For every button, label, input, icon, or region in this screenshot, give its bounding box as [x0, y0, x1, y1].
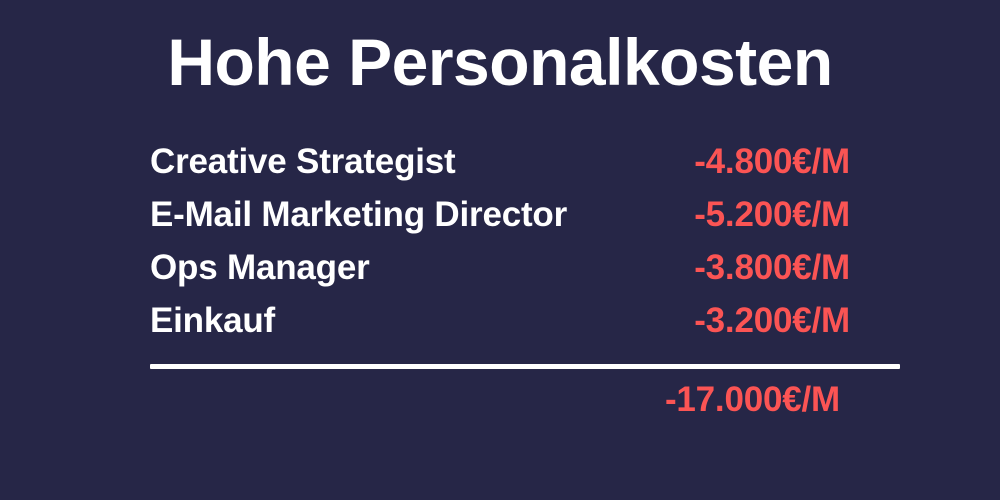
page-title: Hohe Personalkosten	[0, 28, 1000, 97]
cost-item-amount: -3.200€/M	[694, 301, 850, 341]
total-amount: -17.000€/M	[665, 380, 840, 420]
cost-item-amount: -5.200€/M	[694, 195, 850, 235]
total-divider	[150, 364, 900, 369]
table-row: Ops Manager -3.800€/M	[150, 248, 850, 301]
cost-item-label: Creative Strategist	[150, 142, 456, 182]
slide-canvas: Hohe Personalkosten Creative Strategist …	[0, 0, 1000, 500]
table-row: Einkauf -3.200€/M	[150, 301, 850, 354]
cost-item-amount: -3.800€/M	[694, 248, 850, 288]
table-row: E-Mail Marketing Director -5.200€/M	[150, 195, 850, 248]
total-row: -17.000€/M	[150, 380, 840, 420]
cost-item-amount: -4.800€/M	[694, 142, 850, 182]
table-row: Creative Strategist -4.800€/M	[150, 142, 850, 195]
cost-item-label: Einkauf	[150, 301, 275, 341]
cost-item-label: Ops Manager	[150, 248, 370, 288]
cost-table: Creative Strategist -4.800€/M E-Mail Mar…	[150, 142, 850, 354]
cost-item-label: E-Mail Marketing Director	[150, 195, 567, 235]
